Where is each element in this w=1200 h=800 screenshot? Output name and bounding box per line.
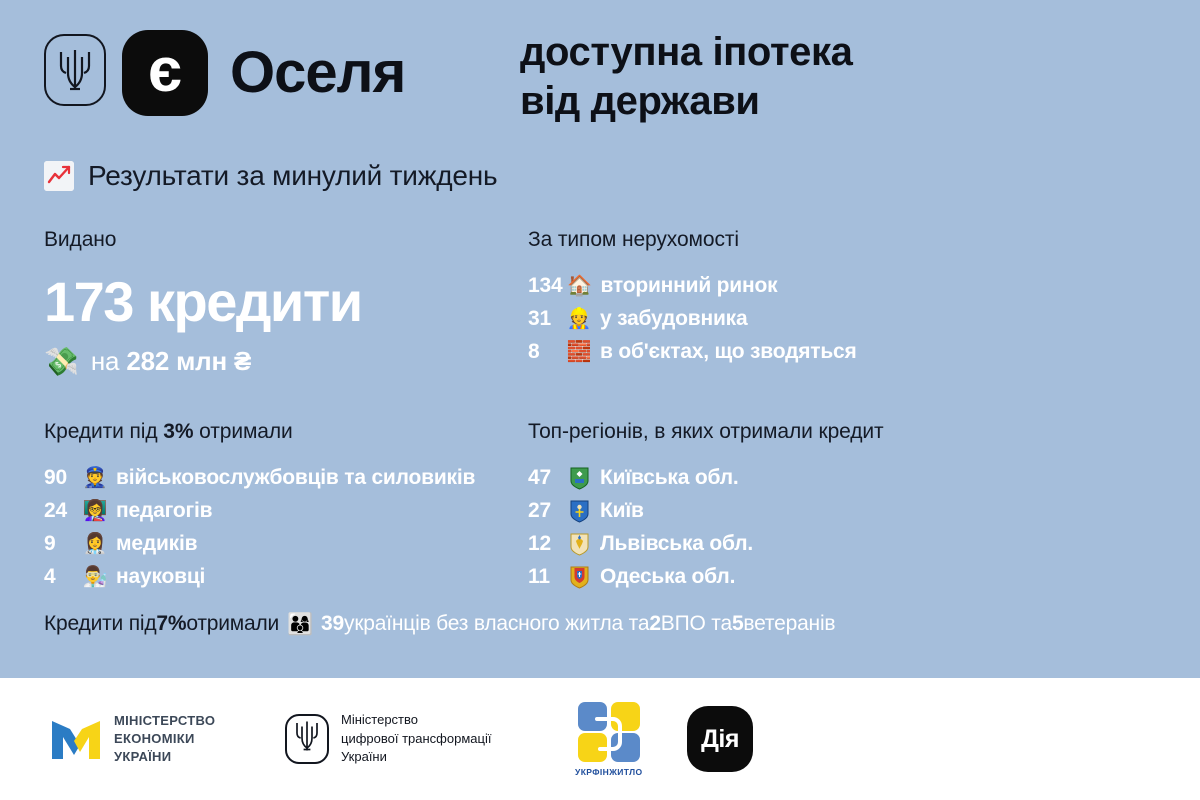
kyiv-oblast-coat-of-arms: [564, 467, 594, 490]
ediia-e-badge: є: [122, 30, 208, 116]
row-label: педагогів: [116, 499, 212, 523]
police-officer-emoji: 👮: [80, 468, 110, 488]
kyiv-city-coat-of-arms: [564, 500, 594, 523]
tagline-line-1: доступна іпотека: [520, 28, 852, 77]
trident-badge: [285, 714, 329, 764]
row-count: 12: [528, 532, 562, 556]
rate3-heading: Кредити під 3% отримали: [44, 420, 524, 444]
rate7-text-veterans: ветеранів: [743, 612, 835, 636]
regions-block: Топ-регіонів, в яких отримали кредит 47 …: [528, 420, 1168, 598]
issued-amount-row: 💸 на 282 млн ₴: [44, 346, 514, 377]
list-item: 90 👮 військовослужбовців та силовиків: [44, 466, 524, 490]
list-item: 24 👩‍🏫 педагогів: [44, 499, 524, 523]
row-label: науковці: [116, 565, 205, 589]
rate7-count-idp: 2: [649, 612, 660, 636]
list-item: 31 👷 у забудовника: [528, 307, 1168, 331]
rate7-line: Кредити під 7% отримали 👨‍👩‍👦 39 українц…: [44, 612, 835, 636]
row-count: 24: [44, 499, 78, 523]
infographic-page: є Оселя доступна іпотека від держави Рез…: [0, 0, 1200, 800]
row-count: 134: [528, 274, 562, 298]
row-label: в об'єктах, що зводяться: [600, 340, 857, 364]
ministry-of-digital-transformation-logo: Міністерство цифрової трансформації Укра…: [285, 711, 491, 766]
tagline: доступна іпотека від держави: [520, 28, 852, 126]
rate7-text-families: українців без власного житла та: [344, 612, 649, 636]
diia-badge: Дія: [687, 706, 753, 772]
amount-value: 282 млн ₴: [126, 346, 251, 376]
rate7-mid: отримали: [186, 612, 279, 636]
odesa-oblast-coat-of-arms: [564, 566, 594, 589]
family-emoji: 👨‍👩‍👦: [287, 614, 313, 635]
row-count: 9: [44, 532, 78, 556]
ukrfinzhytlo-logo: УКРФІНЖИТЛО: [575, 701, 643, 777]
econ-line-3: УКРАЇНИ: [114, 748, 215, 766]
row-count: 47: [528, 466, 562, 490]
trident-icon: [58, 48, 92, 92]
econ-line-1: МІНІСТЕРСТВО: [114, 712, 215, 730]
regions-list: 47 Київська обл. 27: [528, 466, 1168, 589]
list-item: 8 🧱 в об'єктах, що зводяться: [528, 340, 1168, 364]
tagline-line-2: від держави: [520, 77, 852, 126]
list-item: 12 Львівська обл.: [528, 532, 1168, 556]
row-label: Львівська обл.: [600, 532, 753, 556]
row-count: 8: [528, 340, 562, 364]
digital-line-1: Міністерство: [341, 711, 491, 729]
trident-badge: [44, 34, 106, 106]
row-label: Одеська обл.: [600, 565, 735, 589]
list-item: 4 👨‍🔬 науковці: [44, 565, 524, 589]
rate3-block: Кредити під 3% отримали 90 👮 військовосл…: [44, 420, 524, 598]
footer-logo-bar: МІНІСТЕРСТВО ЕКОНОМІКИ УКРАЇНИ М: [0, 678, 1200, 800]
rate7-prefix: Кредити під: [44, 612, 156, 636]
diia-logo: Дія: [687, 706, 753, 772]
rate7-text-idp: ВПО та: [661, 612, 732, 636]
brick-emoji: 🧱: [564, 342, 594, 362]
rate3-heading-suffix: отримали: [193, 420, 292, 443]
row-label: Київська обл.: [600, 466, 738, 490]
ukrfinzhytlo-caption: УКРФІНЖИТЛО: [575, 767, 643, 777]
row-count: 90: [44, 466, 78, 490]
list-item: 9 👩‍⚕️ медиків: [44, 532, 524, 556]
subtitle-text: Результати за минулий тиждень: [88, 160, 497, 192]
rate3-value: 3%: [163, 420, 193, 443]
list-item: 27 Київ: [528, 499, 1168, 523]
rate7-count-veterans: 5: [732, 612, 743, 636]
property-type-list: 134 🏠 вторинний ринок 31 👷 у забудовника…: [528, 274, 1168, 364]
lviv-oblast-coat-of-arms: [564, 533, 594, 556]
teacher-emoji: 👩‍🏫: [80, 501, 110, 521]
row-count: 31: [528, 307, 562, 331]
ukrfinzhytlo-logo-mark: [575, 701, 643, 763]
econ-line-2: ЕКОНОМІКИ: [114, 730, 215, 748]
health-worker-emoji: 👩‍⚕️: [80, 534, 110, 554]
row-count: 27: [528, 499, 562, 523]
issued-headline: 173 кредити: [44, 274, 514, 330]
rate7-count-families: 39: [321, 612, 344, 636]
row-count: 11: [528, 565, 562, 589]
row-label: у забудовника: [600, 307, 747, 331]
rate3-list: 90 👮 військовослужбовців та силовиків 24…: [44, 466, 524, 589]
house-emoji: 🏠: [564, 276, 594, 296]
construction-worker-emoji: 👷: [564, 309, 594, 329]
money-with-wings-emoji: 💸: [44, 348, 79, 376]
row-label: медиків: [116, 532, 197, 556]
property-type-block: За типом нерухомості 134 🏠 вторинний рин…: [528, 228, 1168, 373]
issued-heading: Видано: [44, 228, 514, 252]
ministry-of-economy-logo: МІНІСТЕРСТВО ЕКОНОМІКИ УКРАЇНИ: [50, 712, 215, 766]
list-item: 134 🏠 вторинний ринок: [528, 274, 1168, 298]
digital-line-2: цифрової трансформації: [341, 730, 491, 748]
rate7-value: 7%: [156, 612, 186, 636]
regions-heading: Топ-регіонів, в яких отримали кредит: [528, 420, 1168, 444]
e-badge-letter: є: [148, 40, 182, 102]
diia-label: Дія: [701, 725, 739, 754]
ministry-of-economy-logo-text: МІНІСТЕРСТВО ЕКОНОМІКИ УКРАЇНИ: [114, 712, 215, 766]
brand-header: є Оселя: [44, 30, 405, 116]
row-count: 4: [44, 565, 78, 589]
amount-prefix: на: [91, 346, 126, 376]
row-label: Київ: [600, 499, 644, 523]
list-item: 11 Одеська обл.: [528, 565, 1168, 589]
rate3-heading-prefix: Кредити під: [44, 420, 163, 443]
ministry-of-economy-logo-mark: [50, 715, 102, 763]
issued-amount-text: на 282 млн ₴: [91, 346, 251, 377]
list-item: 47 Київська обл.: [528, 466, 1168, 490]
trident-icon: [295, 720, 319, 757]
scientist-emoji: 👨‍🔬: [80, 567, 110, 587]
issued-block: Видано 173 кредити 💸 на 282 млн ₴: [44, 228, 514, 377]
brand-name: Оселя: [230, 44, 405, 102]
subtitle-row: Результати за минулий тиждень: [44, 160, 497, 192]
digital-line-3: України: [341, 748, 491, 766]
row-label: військовослужбовців та силовиків: [116, 466, 475, 490]
property-type-heading: За типом нерухомості: [528, 228, 1168, 252]
ministry-of-digital-transformation-logo-text: Міністерство цифрової трансформації Укра…: [341, 711, 491, 766]
row-label: вторинний ринок: [600, 274, 777, 298]
chart-increasing-icon: [44, 161, 74, 191]
